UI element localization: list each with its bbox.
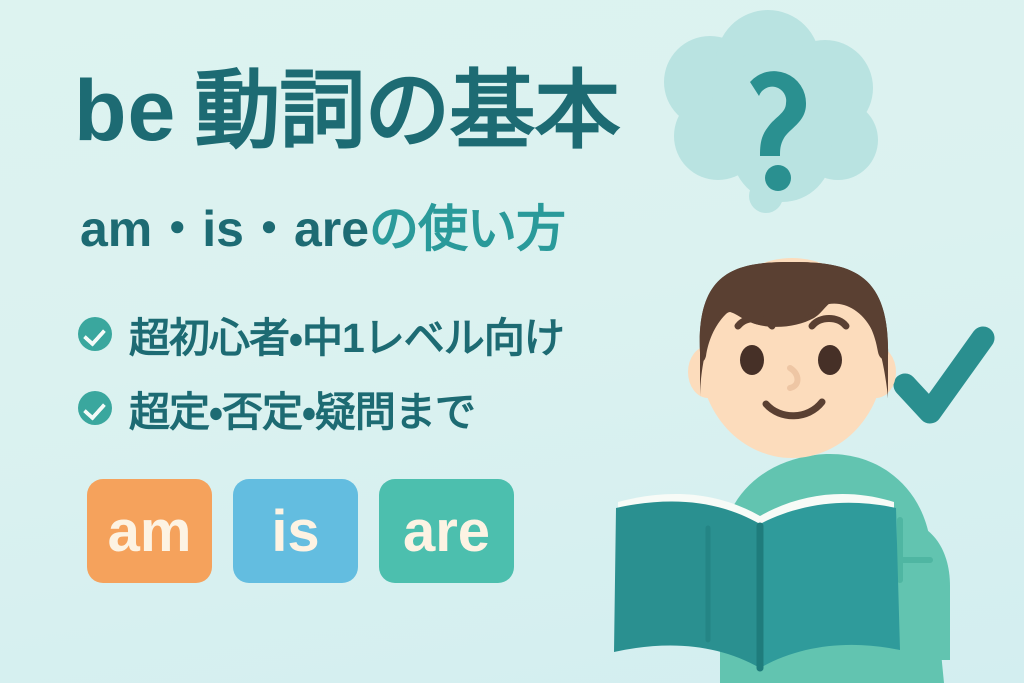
eye-right <box>818 345 842 375</box>
open-book-icon <box>614 494 900 668</box>
poster-canvas: be動詞の基本 am・is・areの使い方 超初心者・中1レベル向け 超定・否定… <box>0 0 1024 683</box>
verb-chip-group: am is are <box>87 479 514 583</box>
illustration-boy-reading <box>600 0 1024 683</box>
title-latin: be <box>74 63 176 159</box>
list-item: 超初心者・中1レベル向け <box>78 306 564 362</box>
bullet-label: 超初心者・中1レベル向け <box>129 304 564 364</box>
text-column: be動詞の基本 am・is・areの使い方 超初心者・中1レベル向け 超定・否定… <box>0 0 700 683</box>
check-circle-icon <box>78 391 112 425</box>
list-item: 超定・否定・疑問まで <box>78 380 564 436</box>
subtitle-latin: am・is・are <box>80 201 369 257</box>
bullet-label: 超定・否定・疑問まで <box>129 378 475 438</box>
chip-are: are <box>379 479 514 583</box>
check-mark-icon <box>905 338 983 412</box>
eye-left <box>740 345 764 375</box>
page-title: be動詞の基本 <box>74 68 619 154</box>
title-japanese: 動詞の基本 <box>194 63 619 159</box>
subtitle-japanese: の使い方 <box>369 201 565 257</box>
check-circle-icon <box>78 317 112 351</box>
page-subtitle: am・is・areの使い方 <box>80 203 565 256</box>
chip-am: am <box>87 479 212 583</box>
chip-is: is <box>233 479 358 583</box>
boy-head <box>700 258 888 458</box>
bullet-list: 超初心者・中1レベル向け 超定・否定・疑問まで <box>78 306 564 454</box>
